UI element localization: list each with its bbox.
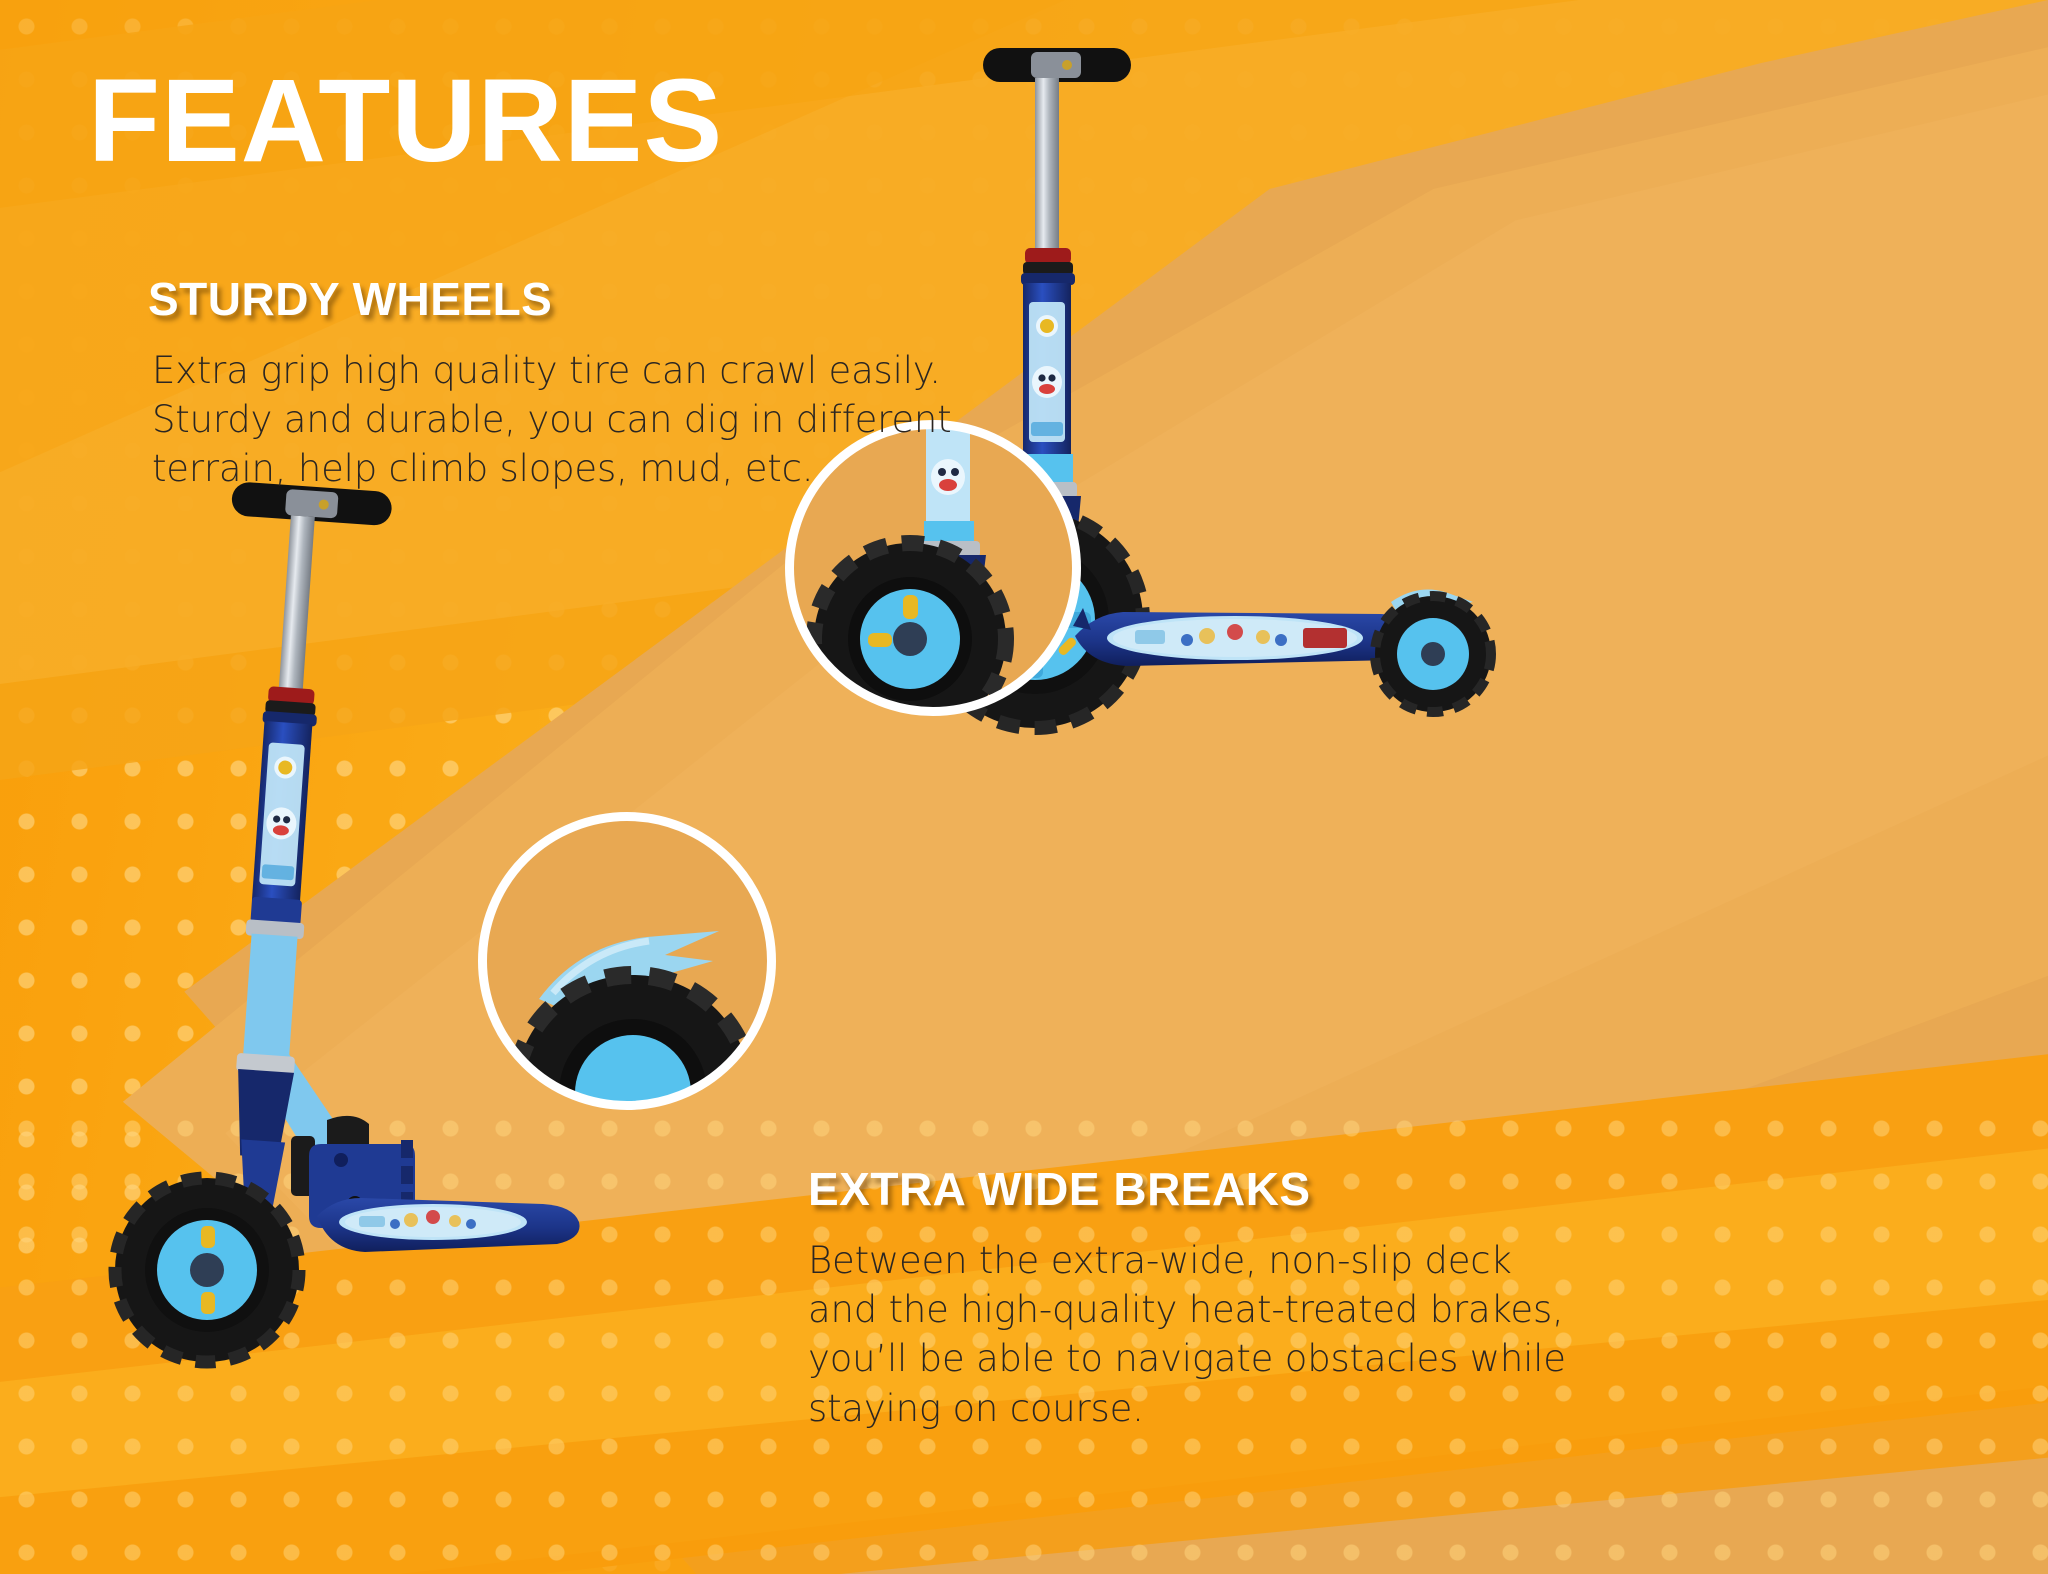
section-body: Between the extra-wide, non-slip deck an… [808,1236,1566,1433]
body-line: and the high-quality heat-treated brakes… [808,1285,1566,1334]
section-body: Extra grip high quality tire can crawl e… [152,346,952,494]
body-line: Between the extra-wide, non-slip deck [808,1236,1566,1285]
body-line: terrain, help climb slopes, mud, etc. [152,444,952,493]
deck [317,1198,580,1252]
front-wheel [115,1178,299,1362]
infographic-canvas: FEATURES STURDY WHEELS Extra grip high q… [0,0,2048,1574]
brake-callout-circle [478,812,776,1110]
page-title: FEATURES [88,62,723,180]
section-heading: EXTRA WIDE BREAKS [808,1162,1566,1216]
deck [1073,608,1420,666]
body-line: Sturdy and durable, you can dig in diffe… [152,395,952,444]
deck-sticker [1113,619,1357,657]
body-line: staying on course. [808,1384,1566,1433]
feature-section-sturdy-wheels: STURDY WHEELS Extra grip high quality ti… [148,272,952,494]
deck-sticker [345,1207,521,1237]
handlebar [983,48,1131,82]
body-line: Extra grip high quality tire can crawl e… [152,346,952,395]
body-line: you’ll be able to navigate obstacles whi… [808,1334,1566,1383]
rear-wheel [1375,590,1491,712]
section-heading: STURDY WHEELS [148,272,952,326]
feature-section-extra-wide-breaks: EXTRA WIDE BREAKS Between the extra-wide… [808,1162,1566,1433]
